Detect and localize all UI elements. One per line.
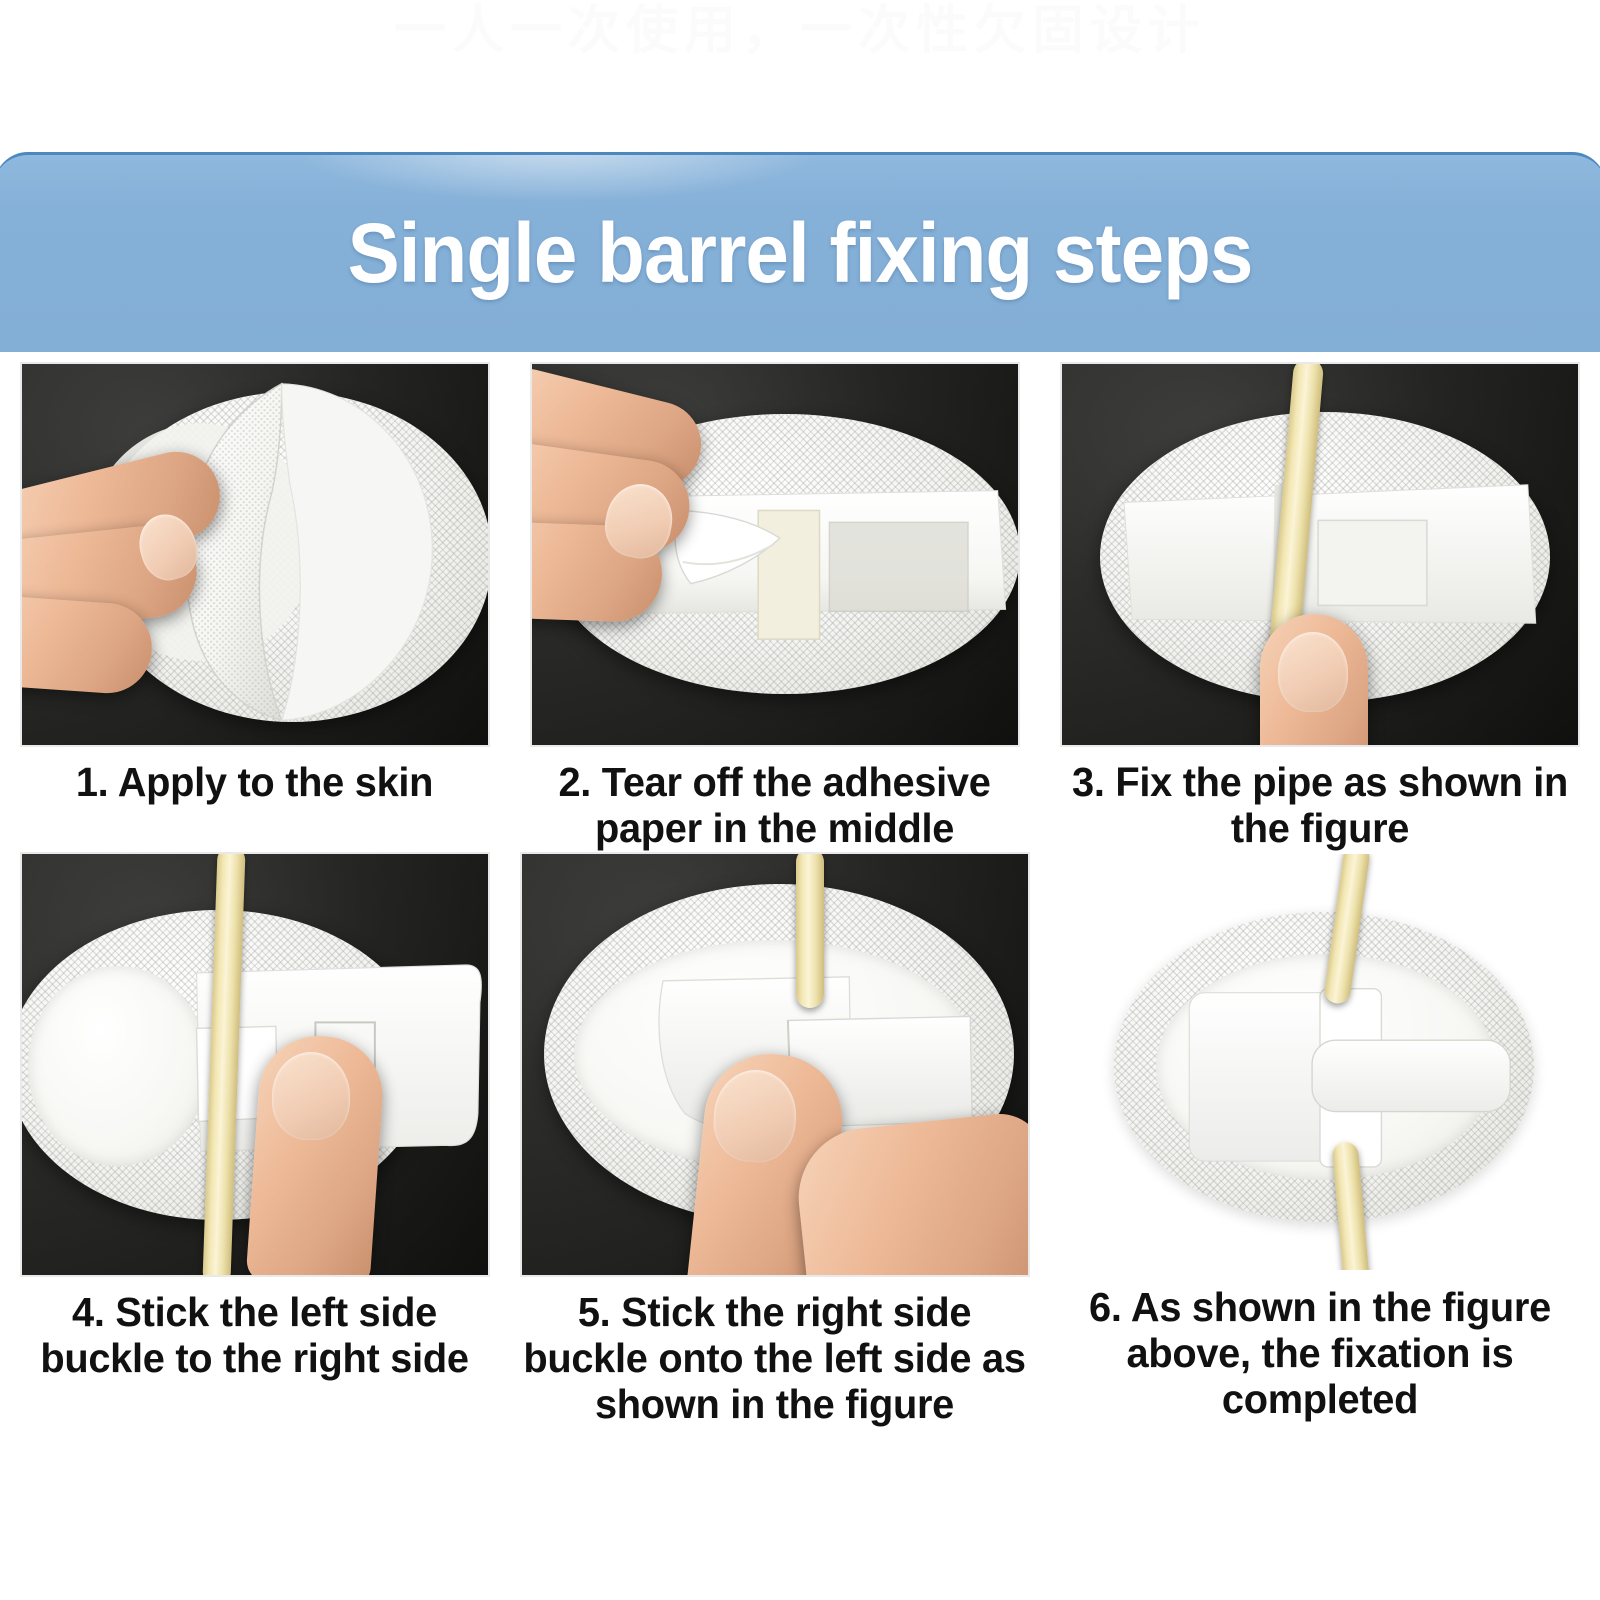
step-1: 1. Apply to the skin — [0, 362, 509, 852]
step-3-photo-wrap — [1040, 362, 1600, 747]
step-5: 5. Stick the right side buckle onto the … — [509, 852, 1040, 1428]
step-6-photo — [1050, 852, 1590, 1272]
step-4-photo — [20, 852, 490, 1277]
step-5-photo — [520, 852, 1030, 1277]
step-6: 6. As shown in the figure above, the fix… — [1040, 852, 1600, 1428]
step-2: 2. Tear off the adhesive paper in the mi… — [509, 362, 1040, 852]
step-1-photo — [20, 362, 490, 747]
step-4-photo-wrap — [0, 852, 509, 1277]
step-5-caption: 5. Stick the right side buckle onto the … — [517, 1289, 1032, 1428]
page-title: Single barrel fixing steps — [50, 155, 1549, 352]
steps-grid: 1. Apply to the skin — [0, 362, 1600, 1428]
step-6-photo-wrap — [1040, 852, 1600, 1272]
step-3-photo — [1060, 362, 1580, 747]
step-6-caption: 6. As shown in the figure above, the fix… — [1048, 1284, 1591, 1423]
step-2-photo-wrap — [509, 362, 1040, 747]
step-1-caption: 1. Apply to the skin — [8, 759, 502, 805]
step-4-caption: 4. Stick the left side buckle to the rig… — [8, 1289, 502, 1382]
step-1-photo-wrap — [0, 362, 509, 747]
watermark-top: 一人一次使用，一次性欠固设计 — [0, 0, 1600, 63]
step-3-caption: 3. Fix the pipe as shown in the figure — [1048, 759, 1591, 852]
step-4: 4. Stick the left side buckle to the rig… — [0, 852, 509, 1428]
header-banner: Single barrel fixing steps — [0, 152, 1600, 352]
step-2-photo — [530, 362, 1020, 747]
step-3: 3. Fix the pipe as shown in the figure — [1040, 362, 1600, 852]
step-5-photo-wrap — [509, 852, 1040, 1277]
step-2-caption: 2. Tear off the adhesive paper in the mi… — [517, 759, 1032, 852]
